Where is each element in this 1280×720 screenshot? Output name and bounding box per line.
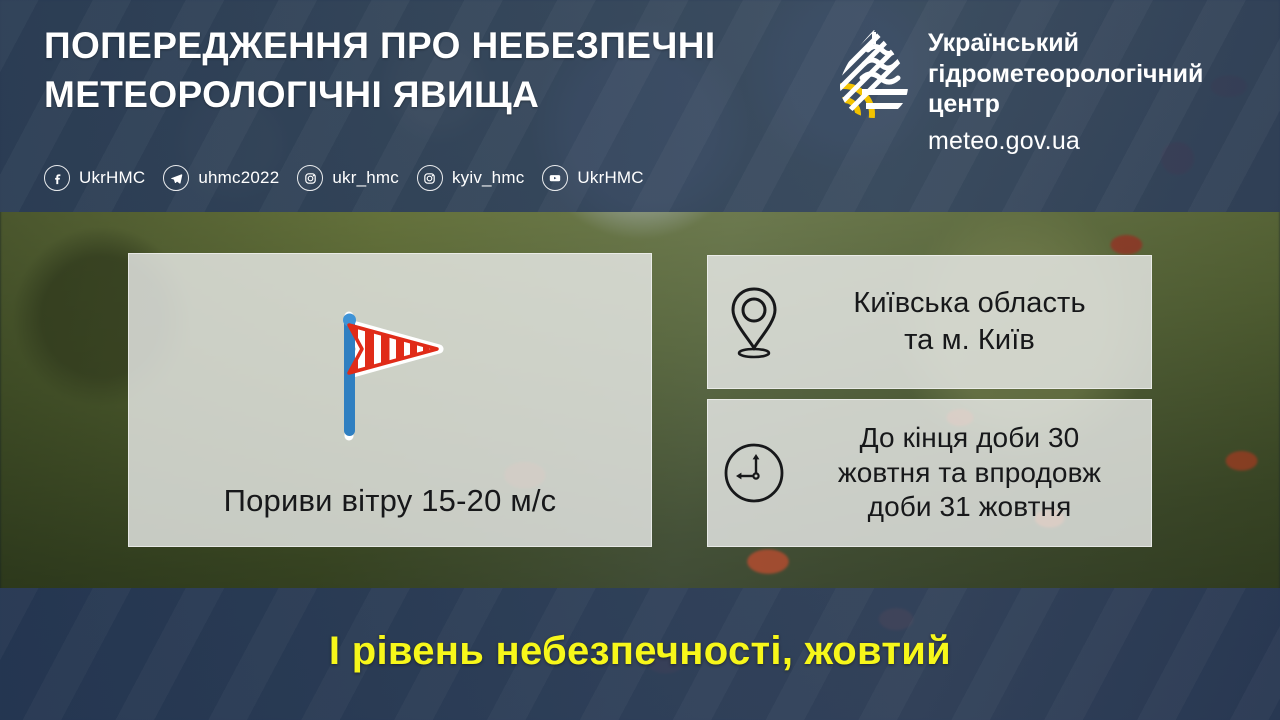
period-panel: До кінця доби 30 жовтня та впродовж доби… (707, 399, 1152, 547)
header-band: ПОПЕРЕДЖЕННЯ ПРО НЕБЕЗПЕЧНІ МЕТЕОРОЛОГІЧ… (0, 0, 1280, 212)
uhmc-droplet-logo-icon (838, 28, 910, 120)
region-text-line-2: та м. Київ (800, 322, 1139, 359)
instagram-icon (417, 165, 443, 191)
map-pin-icon (708, 284, 800, 360)
period-text-line-2: жовтня та впродовж (800, 456, 1139, 491)
region-panel: Київська область та м. Київ (707, 255, 1152, 389)
social-link-youtube[interactable]: UkrHMC (542, 165, 643, 191)
social-link-instagram-kyiv[interactable]: kyiv_hmc (417, 165, 524, 191)
region-text: Київська область та м. Київ (800, 285, 1151, 359)
logo-name-line-1: Український (928, 28, 1203, 59)
social-label-telegram: uhmc2022 (198, 168, 279, 188)
instagram-icon (297, 165, 323, 191)
clock-icon (708, 440, 800, 506)
telegram-icon (163, 165, 189, 191)
period-text-line-3: доби 31 жовтня (800, 490, 1139, 525)
logo-website-url[interactable]: meteo.gov.ua (928, 127, 1203, 156)
social-link-facebook[interactable]: UkrHMC (44, 165, 145, 191)
period-text: До кінця доби 30 жовтня та впродовж доби… (800, 421, 1151, 525)
danger-level-text: І рівень небезпечності, жовтий (329, 629, 951, 674)
social-label-facebook: UkrHMC (79, 168, 145, 188)
wind-pennant-icon (331, 302, 449, 455)
organization-logo: Український гідрометеорологічний центр m… (838, 28, 1203, 156)
social-label-youtube: UkrHMC (577, 168, 643, 188)
footer-band: І рівень небезпечності, жовтий (0, 588, 1280, 720)
phenomenon-text: Пориви вітру 15-20 м/с (224, 483, 557, 519)
social-label-instagram-kyiv: kyiv_hmc (452, 168, 524, 188)
logo-name-line-2: гідрометеорологічний (928, 59, 1203, 90)
region-text-line-1: Київська область (800, 285, 1139, 322)
youtube-icon (542, 165, 568, 191)
social-link-instagram-ukr[interactable]: ukr_hmc (297, 165, 399, 191)
social-label-instagram-ukr: ukr_hmc (332, 168, 399, 188)
page-title-line-1: ПОПЕРЕДЖЕННЯ ПРО НЕБЕЗПЕЧНІ (44, 22, 834, 71)
logo-name-line-3: центр (928, 89, 1203, 120)
period-text-line-1: До кінця доби 30 (800, 421, 1139, 456)
page-title: ПОПЕРЕДЖЕННЯ ПРО НЕБЕЗПЕЧНІ МЕТЕОРОЛОГІЧ… (44, 22, 834, 120)
phenomenon-panel: Пориви вітру 15-20 м/с (128, 253, 652, 547)
weather-warning-poster: ПОПЕРЕДЖЕННЯ ПРО НЕБЕЗПЕЧНІ МЕТЕОРОЛОГІЧ… (0, 0, 1280, 720)
facebook-icon (44, 165, 70, 191)
social-links: UkrHMC uhmc2022 (44, 165, 662, 191)
page-title-line-2: МЕТЕОРОЛОГІЧНІ ЯВИЩА (44, 71, 834, 120)
social-link-telegram[interactable]: uhmc2022 (163, 165, 279, 191)
